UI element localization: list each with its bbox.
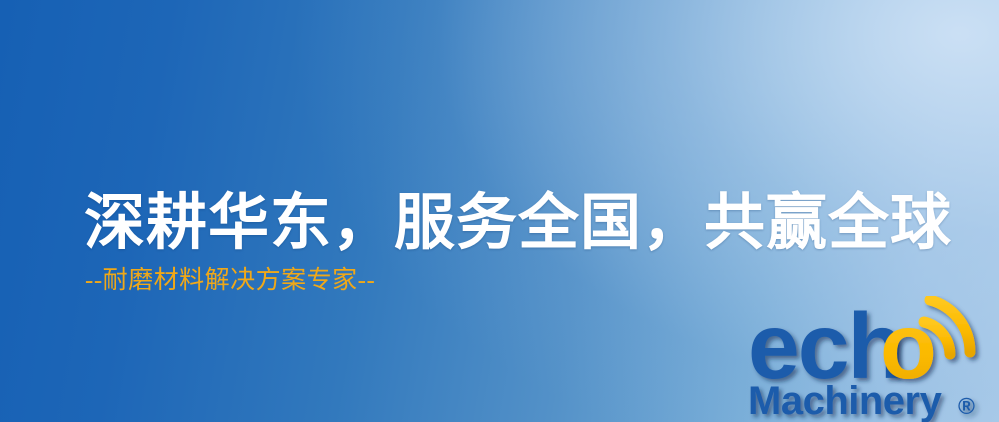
svg-text:®: ® bbox=[958, 393, 975, 419]
promotional-banner: 深耕华东，服务全国，共赢全球 --耐磨材料解决方案专家-- bbox=[0, 0, 999, 422]
svg-text:Machinery: Machinery bbox=[748, 379, 943, 422]
banner-headline: 深耕华东，服务全国，共赢全球 bbox=[84, 189, 944, 259]
logo-tagline: Machinery ® bbox=[748, 379, 975, 422]
banner-subtitle: --耐磨材料解决方案专家-- bbox=[85, 266, 375, 296]
echo-machinery-logo: ech o Machinery ® bbox=[748, 296, 999, 422]
